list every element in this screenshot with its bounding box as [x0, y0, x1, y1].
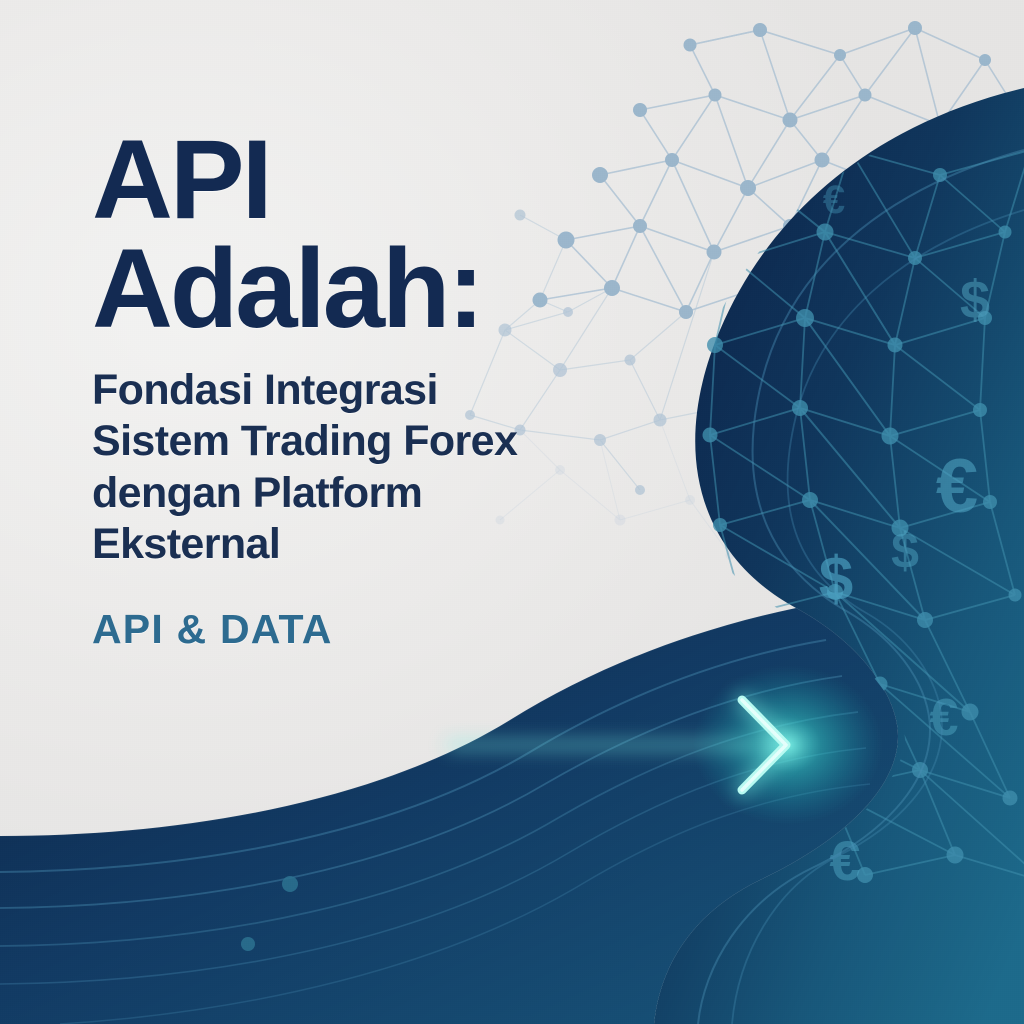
subtitle-line-2: Sistem Trading Forex [92, 416, 652, 467]
subtitle-line-3: dengan Platform [92, 468, 652, 519]
headline-line-1: API [92, 117, 270, 242]
currency-symbol-euro-1: € [936, 444, 978, 529]
text-block: API Adalah: Fondasi Integrasi Sistem Tra… [92, 126, 652, 653]
page-title: API Adalah: [92, 126, 652, 343]
currency-symbol-euro-2: € [930, 689, 959, 747]
category-label: API & DATA [92, 606, 652, 653]
headline-line-2: Adalah: [92, 235, 652, 344]
currency-symbol-dollar-1: $ [960, 270, 990, 330]
subtitle-line-4: Eksternal [92, 519, 652, 570]
currency-symbol-dollar-2: $ [891, 523, 919, 579]
subtitle: Fondasi Integrasi Sistem Trading Forex d… [92, 365, 652, 570]
poster-canvas: € $ [0, 0, 1024, 1024]
subtitle-line-1: Fondasi Integrasi [92, 365, 652, 416]
